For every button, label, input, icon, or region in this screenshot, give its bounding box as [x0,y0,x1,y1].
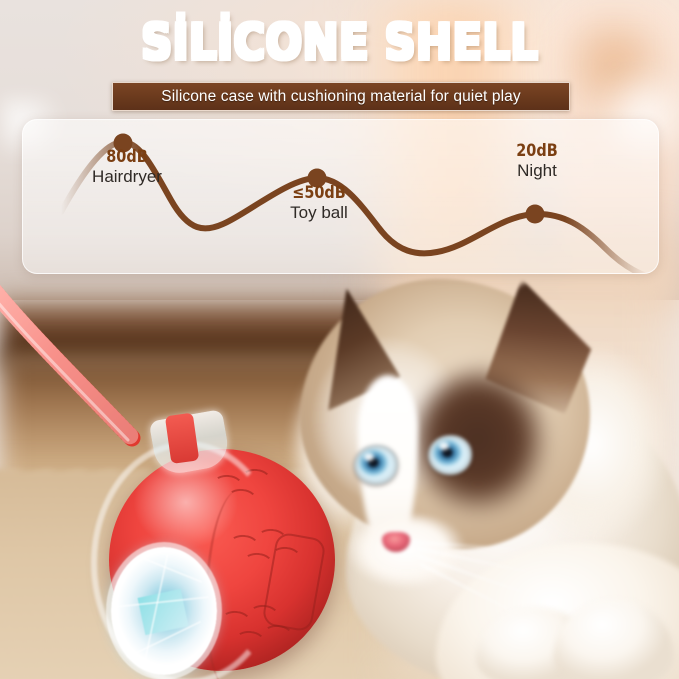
subtitle-text: Silicone case with cushioning material f… [161,88,520,106]
marker-db-value: ≤50dB [278,184,360,203]
noise-comparison-panel: 80dB Hairdryer ≤50dB Toy ball 20dB Night [22,119,659,274]
cap-inner-rope [165,413,199,464]
data-point-night [526,205,545,224]
ball-transparent-shell [91,441,283,679]
marker-source-name: Toy ball [271,203,367,223]
marker-source-name: Night [489,161,585,181]
silicone-toy-ball [95,415,357,677]
marker-label-night: 20dB Night [489,142,585,181]
product-marketing-image: SİLİCONE SHELL Silicone case with cushio… [0,0,679,679]
marker-db-value: 80dB [86,148,168,167]
eye-highlight [364,453,374,461]
marker-label-hairdryer: 80dB Hairdryer [79,148,175,187]
cat-muzzle [344,515,474,601]
marker-db-value: 20dB [496,142,578,161]
cat-eye-left [354,445,398,485]
cat-eye-right [428,435,472,475]
marker-source-name: Hairdryer [79,167,175,187]
eye-highlight [439,442,449,450]
marker-label-toy-ball: ≤50dB Toy ball [271,184,367,223]
subtitle-banner: Silicone case with cushioning material f… [112,82,570,111]
